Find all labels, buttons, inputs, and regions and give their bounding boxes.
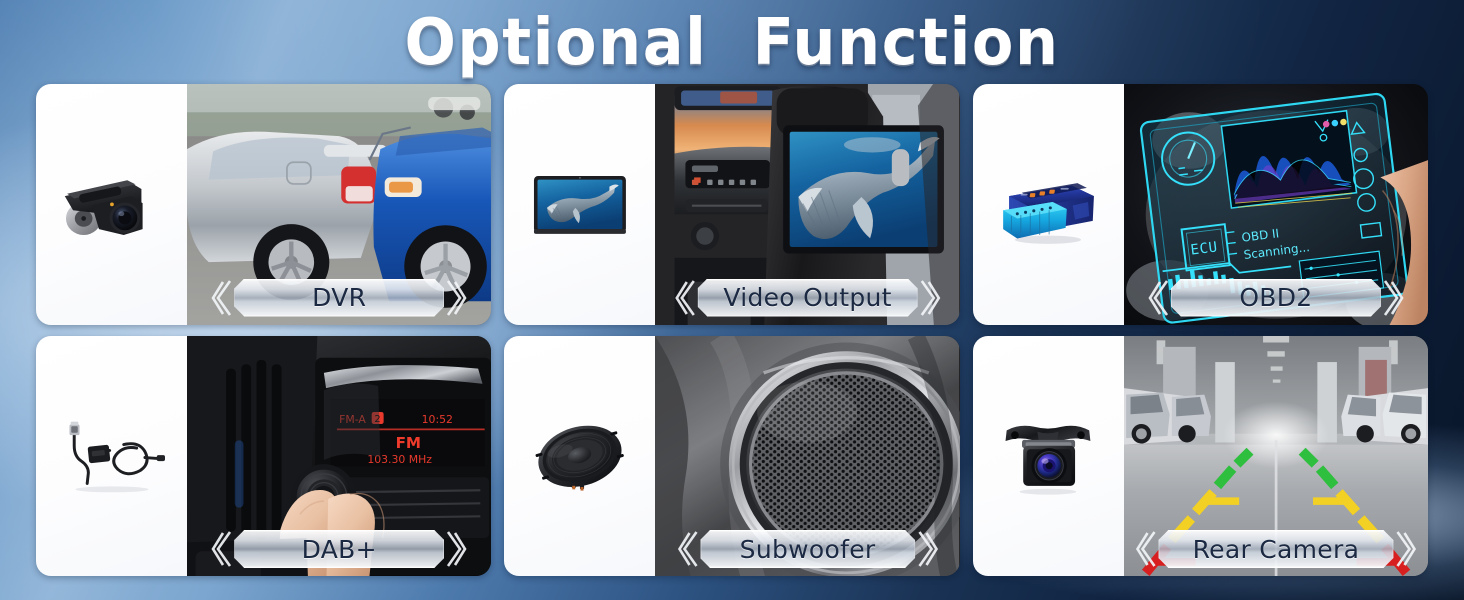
feature-card-dab-plus[interactable]: FM-A 2 10:52 FM 103.30 MHz xyxy=(36,336,491,577)
product-panel-rear-camera xyxy=(973,336,1124,577)
headrest-monitor-icon xyxy=(521,122,639,286)
parking-garage-guideline-scene xyxy=(1124,336,1428,577)
scene-panel-dvr: DVR xyxy=(187,84,491,325)
scene-panel-subwoofer: Subwoofer xyxy=(655,336,959,577)
door-speaker-grille-scene xyxy=(655,336,959,577)
feature-card-rear-camera[interactable]: Rear Camera xyxy=(973,336,1428,577)
speaker-driver-icon xyxy=(521,374,639,538)
car-radio-knob-scene: FM-A 2 10:52 FM 103.30 MHz xyxy=(187,336,491,577)
feature-card-grid: DVR xyxy=(36,84,1428,576)
obd2-bluetooth-dongle-icon xyxy=(989,122,1107,286)
scene-panel-rear-camera: Rear Camera xyxy=(1124,336,1428,577)
product-panel-subwoofer xyxy=(504,336,655,577)
feature-card-dvr[interactable]: DVR xyxy=(36,84,491,325)
reversing-camera-icon xyxy=(989,374,1107,538)
product-panel-video-output xyxy=(504,84,655,325)
ecu-label: ECU xyxy=(1190,239,1219,258)
radio-clock: 10:52 xyxy=(422,412,453,425)
scene-panel-dab-plus: FM-A 2 10:52 FM 103.30 MHz xyxy=(187,336,491,577)
product-panel-dvr xyxy=(36,84,187,325)
feature-card-subwoofer[interactable]: Subwoofer xyxy=(504,336,959,577)
dab-antenna-adapter-icon xyxy=(53,374,171,538)
feature-card-obd2[interactable]: ECU OBD II Scanning... xyxy=(973,84,1428,325)
scene-panel-obd2: ECU OBD II Scanning... xyxy=(1124,84,1428,325)
car-headrest-screen-scene xyxy=(655,84,959,325)
infographic-root: Optional Function xyxy=(0,0,1464,600)
feature-card-video-output[interactable]: Video Output xyxy=(504,84,959,325)
scene-panel-video-output: Video Output xyxy=(655,84,959,325)
product-panel-dab-plus xyxy=(36,336,187,577)
page-title-text: Optional Function xyxy=(404,6,1059,80)
diagnostic-tablet-hud-scene: ECU OBD II Scanning... xyxy=(1124,84,1428,325)
rear-end-collision-scene xyxy=(187,84,491,325)
radio-mode: FM xyxy=(396,433,422,451)
dash-camera-icon xyxy=(53,122,171,286)
product-panel-obd2 xyxy=(973,84,1124,325)
page-title: Optional Function xyxy=(0,6,1464,72)
